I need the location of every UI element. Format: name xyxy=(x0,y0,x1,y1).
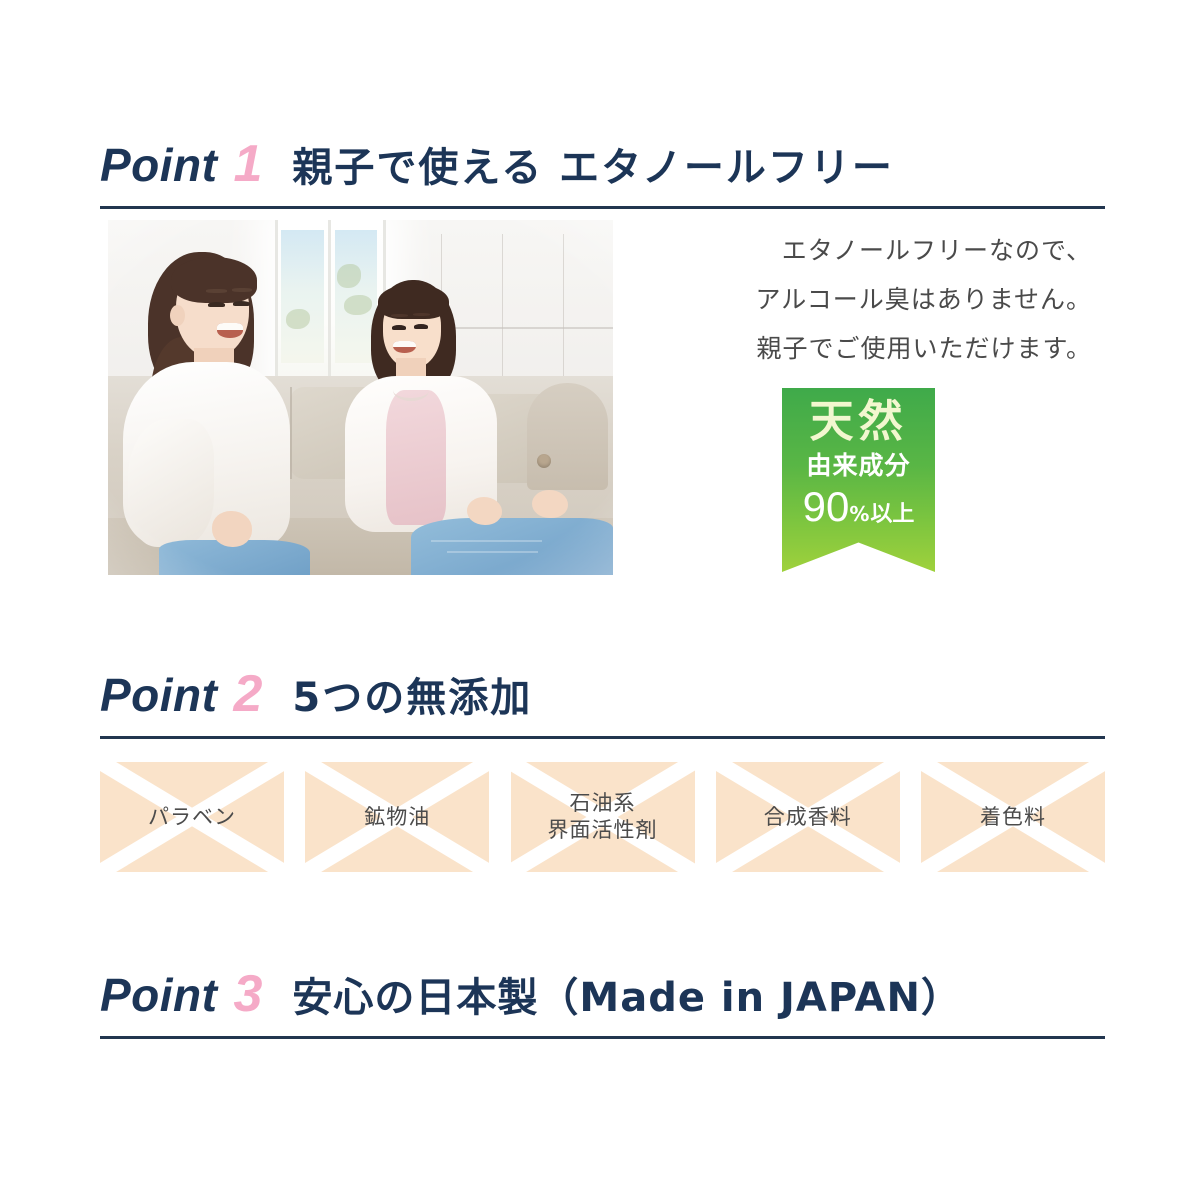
point-number: 3 xyxy=(233,968,262,1020)
additive-free-label: 合成香料 xyxy=(764,804,852,831)
mother-fringe xyxy=(171,257,257,303)
mother-teeth xyxy=(217,323,243,330)
window xyxy=(275,220,386,390)
point-number: 2 xyxy=(233,668,262,720)
mother-ear xyxy=(170,305,185,326)
additive-free-item: 着色料 xyxy=(921,762,1105,872)
point-number: 1 xyxy=(233,138,262,190)
point-label: Point xyxy=(100,972,217,1018)
point-section-2: Point 2 5つの無添加 パラベン 鉱物油 石油系 界面活性剤 xyxy=(100,668,1105,739)
additive-free-item: 鉱物油 xyxy=(305,762,489,872)
child-teeth xyxy=(393,341,415,347)
point-1-heading: Point 1 親子で使える エタノールフリー xyxy=(100,138,1105,200)
sofa-seam xyxy=(290,387,292,479)
point-3-title: 安心の日本製（Made in JAPAN） xyxy=(292,978,962,1018)
mother-eyebrow xyxy=(206,289,226,293)
marketing-page: Point 1 親子で使える エタノールフリー xyxy=(0,0,1200,1200)
child-jeans xyxy=(411,518,613,575)
point-label: Point xyxy=(100,672,217,718)
window-glass xyxy=(281,230,323,363)
additive-free-label: 石油系 界面活性剤 xyxy=(548,790,658,844)
photo-scene xyxy=(108,220,613,575)
description-line: 親子でご使用いただけます。 xyxy=(672,324,1092,373)
mother-eye xyxy=(208,302,225,307)
point-3-divider xyxy=(100,1036,1105,1039)
description-line: アルコール臭はありません。 xyxy=(672,275,1092,324)
additive-free-item: パラベン xyxy=(100,762,284,872)
point-2-heading: Point 2 5つの無添加 xyxy=(100,668,1105,730)
additive-free-label: 着色料 xyxy=(980,804,1046,831)
additive-free-label: パラベン xyxy=(148,804,236,831)
sofa-arm xyxy=(527,383,608,490)
mother-and-child-photo xyxy=(108,220,613,575)
window-frame xyxy=(328,220,331,390)
mother-eye xyxy=(233,301,250,306)
jeans-fold xyxy=(447,551,538,553)
child-collar xyxy=(393,380,428,401)
additive-free-list: パラベン 鉱物油 石油系 界面活性剤 合成香料 着色料 xyxy=(100,762,1105,872)
wall-moulding xyxy=(431,327,613,329)
badge-percent-sign: % xyxy=(849,504,869,524)
badge-percentage: 90 % 以上 xyxy=(782,486,935,528)
additive-free-item: 石油系 界面活性剤 xyxy=(511,762,695,872)
child-eyebrow xyxy=(413,313,430,316)
window-frame xyxy=(275,220,278,390)
jeans-fold xyxy=(431,540,542,542)
point-section-1: Point 1 親子で使える エタノールフリー xyxy=(100,138,1105,209)
child-hand xyxy=(467,497,502,525)
badge-number: 90 xyxy=(803,486,850,528)
badge-headline: 天然 xyxy=(782,388,935,444)
additive-free-item: 合成香料 xyxy=(716,762,900,872)
point-section-3: Point 3 安心の日本製（Made in JAPAN） xyxy=(100,968,1105,1039)
point-3-heading: Point 3 安心の日本製（Made in JAPAN） xyxy=(100,968,1105,1030)
mother-mouth xyxy=(217,323,243,338)
badge-suffix: 以上 xyxy=(870,504,914,526)
mother-sleeve xyxy=(128,419,214,547)
point-label: Point xyxy=(100,142,217,188)
child-hand xyxy=(532,490,567,518)
badge-subline: 由来成分 xyxy=(782,453,935,478)
point-1-divider xyxy=(100,206,1105,209)
natural-ingredients-badge: 天然 由来成分 90 % 以上 xyxy=(782,388,935,572)
point-1-title: 親子で使える エタノールフリー xyxy=(292,148,894,188)
description-line: エタノールフリーなので、 xyxy=(672,226,1092,275)
point-1-description: エタノールフリーなので、 アルコール臭はありません。 親子でご使用いただけます。 xyxy=(672,226,1092,373)
child-eye xyxy=(392,325,406,330)
mother-eyebrow xyxy=(232,288,252,292)
point-2-divider xyxy=(100,736,1105,739)
point-1-body: エタノールフリーなので、 アルコール臭はありません。 親子でご使用いただけます。… xyxy=(100,214,1105,594)
child-pinafore xyxy=(386,390,447,525)
child-eye xyxy=(414,324,428,329)
point-2-title: 5つの無添加 xyxy=(292,678,532,718)
additive-free-label: 鉱物油 xyxy=(364,804,430,831)
mother-hand xyxy=(212,511,252,547)
